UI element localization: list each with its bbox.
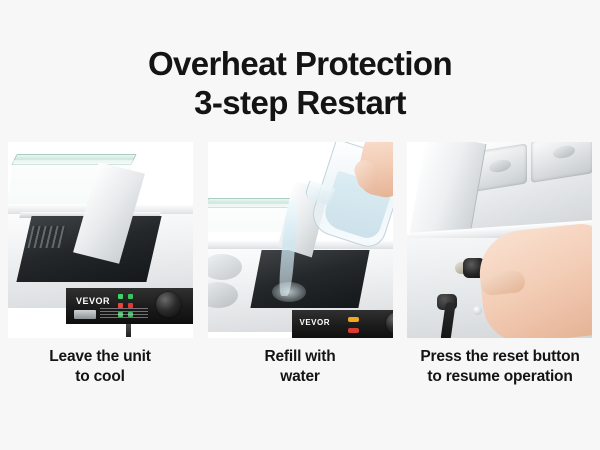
caption-step-3: Press the reset button to resume operati… [400, 347, 600, 387]
led-red-1 [348, 328, 359, 333]
caption-step-2: Refill with water [200, 347, 400, 387]
vent-slots-icon [27, 226, 66, 248]
caption-step-3-line-2: to resume operation [400, 367, 600, 387]
caption-step-2-line-1: Refill with [200, 347, 400, 367]
caption-step-1-line-1: Leave the unit [0, 347, 200, 367]
led-green-2 [128, 294, 133, 299]
caption-step-3-line-1: Press the reset button [400, 347, 600, 367]
step-caption-row: Leave the unit to cool Refill with water… [0, 347, 600, 387]
led-amber-1 [348, 317, 359, 322]
caption-step-1: Leave the unit to cool [0, 347, 200, 387]
step-image-row: VEVOR VEV [8, 142, 592, 338]
brand-logo-panel-2: VEVOR [300, 318, 331, 327]
step-2-image: VEVOR [208, 142, 393, 338]
screw-icon [473, 306, 482, 315]
temperature-knob [156, 292, 181, 317]
step-3-image [407, 142, 592, 338]
support-leg [126, 324, 131, 337]
title-line-2: 3-step Restart [0, 83, 600, 122]
title-line-1: Overheat Protection [0, 44, 600, 83]
led-green-1 [118, 294, 123, 299]
page-title: Overheat Protection 3-step Restart [0, 44, 600, 122]
nameplate [74, 310, 96, 319]
overheat-protection-poster: Overheat Protection 3-step Restart [0, 0, 600, 450]
spec-label [100, 308, 148, 320]
caption-step-2-line-2: water [200, 367, 400, 387]
brand-logo-panel-1: VEVOR [76, 296, 110, 306]
caption-step-1-line-2: to cool [0, 367, 200, 387]
water-splash [272, 282, 306, 302]
step-1-image: VEVOR [8, 142, 193, 338]
water-well [250, 250, 369, 308]
